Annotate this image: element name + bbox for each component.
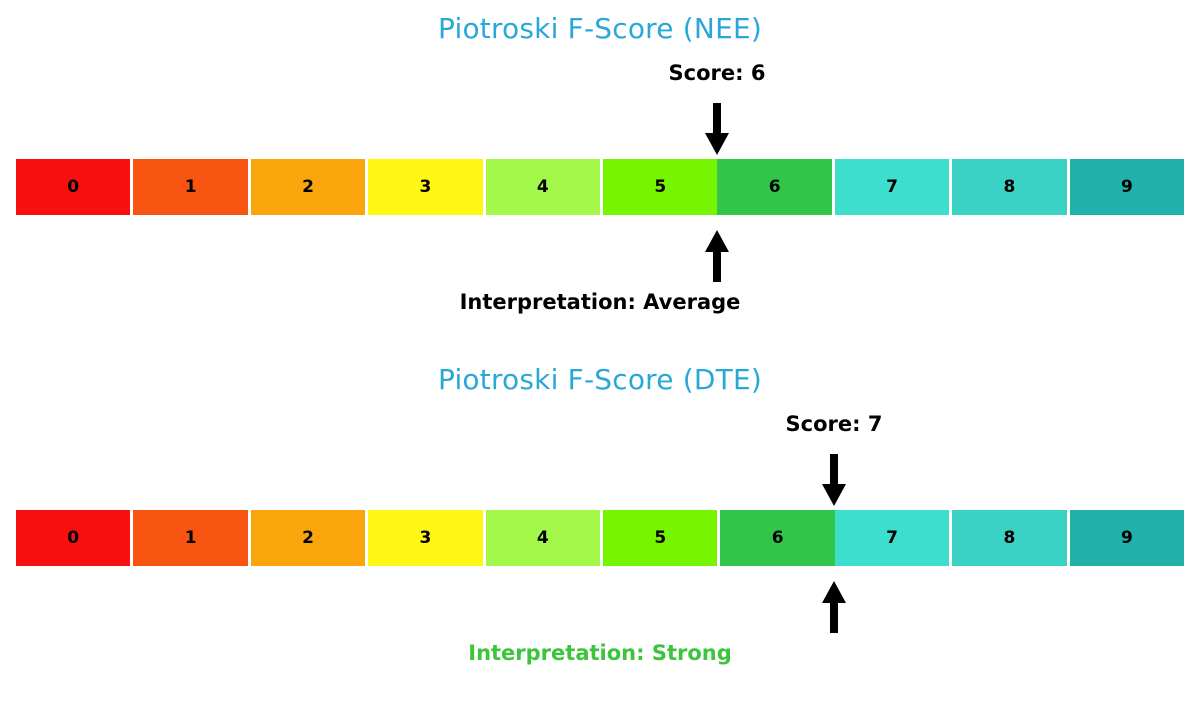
gauge-dte-title: Piotroski F-Score (DTE) — [0, 363, 1200, 396]
scale-segment-label: 3 — [420, 179, 432, 196]
scale-segment-label: 5 — [654, 179, 666, 196]
scale-segment-1[interactable]: 1 — [133, 510, 250, 566]
gauge-dte-score-label: Score: 7 — [786, 412, 883, 436]
gauge-nee-pointer-down-arrow — [700, 103, 734, 159]
scale-segment-6[interactable]: 6 — [720, 510, 834, 566]
scale-segment-1[interactable]: 1 — [133, 159, 250, 215]
gauge-nee-title: Piotroski F-Score (NEE) — [0, 12, 1200, 45]
gauge-nee: Piotroski F-Score (NEE) Score: 6 0 1 2 3… — [0, 0, 1200, 330]
scale-segment-label: 2 — [302, 530, 314, 547]
scale-segment-label: 0 — [67, 179, 79, 196]
scale-segment-label: 0 — [67, 530, 79, 547]
scale-segment-label: 7 — [886, 179, 898, 196]
scale-segment-5[interactable]: 5 — [603, 510, 720, 566]
scale-segment-label: 8 — [1004, 530, 1016, 547]
gauge-nee-interpretation-label: Interpretation: Average — [0, 290, 1200, 314]
scale-segment-2[interactable]: 2 — [251, 510, 368, 566]
scale-segment-label: 3 — [420, 530, 432, 547]
scale-segment-label: 4 — [537, 179, 549, 196]
scale-segment-label: 5 — [654, 530, 666, 547]
scale-segment-9[interactable]: 9 — [1070, 159, 1184, 215]
scale-segment-6[interactable]: 6 — [717, 159, 834, 215]
scale-segment-3[interactable]: 3 — [368, 510, 485, 566]
scale-segment-label: 2 — [302, 179, 314, 196]
scale-segment-label: 1 — [185, 179, 197, 196]
gauge-dte-interpretation-label: Interpretation: Strong — [0, 641, 1200, 665]
scale-segment-7[interactable]: 7 — [835, 510, 952, 566]
scale-segment-8[interactable]: 8 — [952, 510, 1069, 566]
scale-segment-label: 1 — [185, 530, 197, 547]
scale-segment-label: 6 — [769, 179, 781, 196]
scale-segment-label: 4 — [537, 530, 549, 547]
scale-segment-9[interactable]: 9 — [1070, 510, 1184, 566]
scale-segment-label: 9 — [1121, 530, 1133, 547]
gauge-nee-score-label: Score: 6 — [669, 61, 766, 85]
scale-segment-0[interactable]: 0 — [16, 510, 133, 566]
scale-segment-label: 6 — [772, 530, 784, 547]
gauge-nee-pointer-up-arrow — [700, 228, 734, 284]
scale-segment-3[interactable]: 3 — [368, 159, 485, 215]
scale-segment-label: 7 — [886, 530, 898, 547]
scale-segment-2[interactable]: 2 — [251, 159, 368, 215]
scale-segment-label: 9 — [1121, 179, 1133, 196]
gauge-dte-pointer-up-arrow — [817, 579, 851, 635]
scale-segment-label: 8 — [1004, 179, 1016, 196]
scale-segment-4[interactable]: 4 — [486, 510, 603, 566]
gauge-dte-scale-bar: 0 1 2 3 4 5 6 7 8 9 — [16, 510, 1184, 566]
scale-segment-8[interactable]: 8 — [952, 159, 1069, 215]
gauge-dte: Piotroski F-Score (DTE) Score: 7 0 1 2 3… — [0, 351, 1200, 681]
gauge-dte-pointer-down-arrow — [817, 454, 851, 510]
scale-segment-0[interactable]: 0 — [16, 159, 133, 215]
scale-segment-7[interactable]: 7 — [835, 159, 952, 215]
scale-segment-5[interactable]: 5 — [603, 159, 717, 215]
gauge-nee-scale-bar: 0 1 2 3 4 5 6 7 8 9 — [16, 159, 1184, 215]
scale-segment-4[interactable]: 4 — [486, 159, 603, 215]
